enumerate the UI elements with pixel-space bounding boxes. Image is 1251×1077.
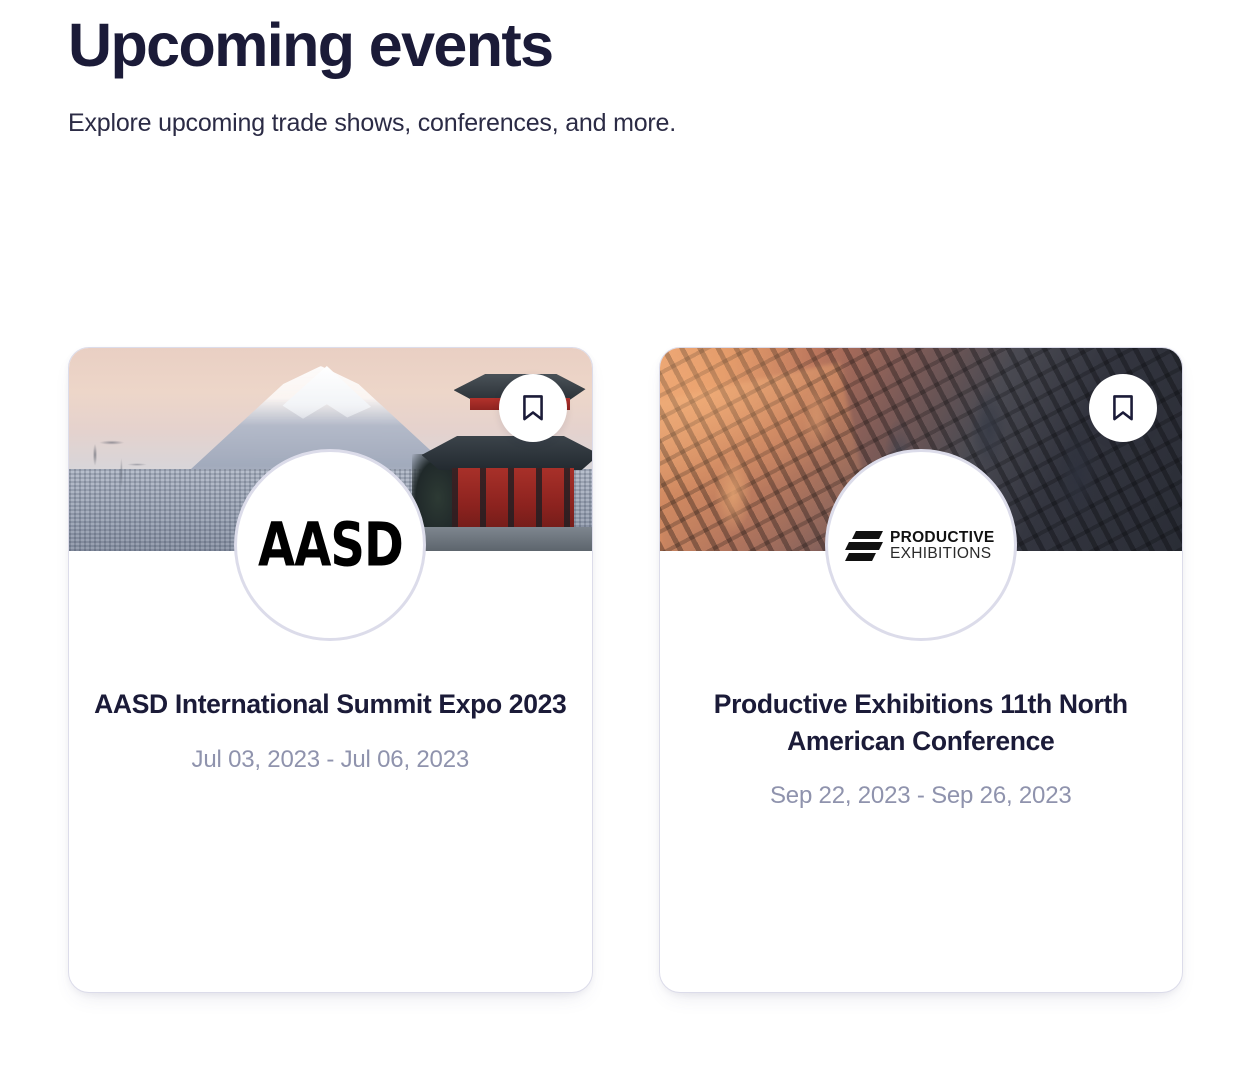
page-subtitle: Explore upcoming trade shows, conference… (68, 107, 1168, 140)
bookmark-button[interactable] (499, 374, 567, 442)
page-title: Upcoming events (68, 12, 1168, 79)
pagoda-structure (420, 348, 592, 551)
event-card[interactable]: PRODUCTIVE EXHIBITIONS Productive Exhibi… (659, 347, 1184, 993)
organizer-logo-text-bottom: EXHIBITIONS (890, 546, 995, 562)
bookmark-button[interactable] (1089, 374, 1157, 442)
pagoda-lower-roof (422, 436, 592, 470)
upcoming-events-page: Upcoming events Explore upcoming trade s… (0, 0, 1251, 1077)
pagoda-pillars (452, 468, 574, 534)
event-cards-grid: AASD AASD International Summit Expo 2023… (68, 347, 1183, 993)
bookmark-icon (1110, 393, 1136, 423)
event-title: AASD International Summit Expo 2023 (91, 686, 570, 723)
organizer-logo-text: AASD (258, 515, 403, 576)
bookmark-icon (520, 393, 546, 423)
event-title: Productive Exhibitions 11th North Americ… (682, 686, 1161, 759)
event-card[interactable]: AASD AASD International Summit Expo 2023… (68, 347, 593, 993)
tree-branches (71, 406, 191, 528)
organizer-logo-wordmark: PRODUCTIVE EXHIBITIONS (847, 530, 995, 563)
three-slanted-bars-icon (847, 530, 881, 562)
organizer-logo-avatar: AASD (234, 449, 426, 641)
event-dates: Sep 22, 2023 - Sep 26, 2023 (682, 780, 1161, 811)
page-header: Upcoming events Explore upcoming trade s… (68, 12, 1168, 140)
organizer-logo-text-top: PRODUCTIVE (890, 530, 995, 546)
organizer-logo-words: PRODUCTIVE EXHIBITIONS (890, 530, 995, 563)
event-dates: Jul 03, 2023 - Jul 06, 2023 (91, 744, 570, 775)
organizer-logo-avatar: PRODUCTIVE EXHIBITIONS (825, 449, 1017, 641)
pagoda-base (416, 527, 592, 551)
